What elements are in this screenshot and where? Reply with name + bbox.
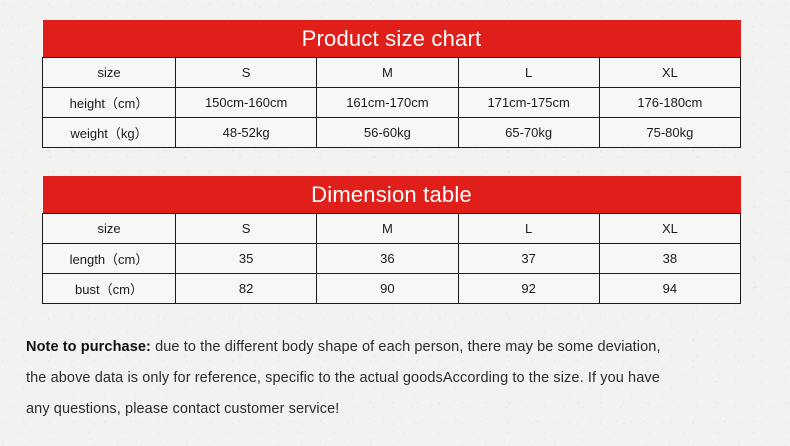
header-cell-xl: XL [599, 58, 740, 88]
row-label-bust: bust（cm） [43, 274, 176, 304]
table-row: length（cm） 35 36 37 38 [43, 244, 741, 274]
dimension-table: Dimension table size S M L XL length（cm）… [42, 176, 741, 304]
cell-length-s: 35 [176, 244, 317, 274]
product-size-chart-title: Product size chart [43, 20, 741, 58]
note-line-1-rest: due to the different body shape of each … [151, 339, 661, 355]
cell-length-l: 37 [458, 244, 599, 274]
cell-bust-l: 92 [458, 274, 599, 304]
table-row: height（cm） 150cm-160cm 161cm-170cm 171cm… [43, 88, 741, 118]
note-line-1: Note to purchase: due to the different b… [26, 332, 768, 363]
cell-height-l: 171cm-175cm [458, 88, 599, 118]
size-chart-page: Product size chart size S M L XL height（… [0, 0, 790, 446]
cell-weight-xl: 75-80kg [599, 118, 740, 148]
cell-height-s: 150cm-160cm [176, 88, 317, 118]
table-header-row: size S M L XL [43, 214, 741, 244]
note-line-3: any questions, please contact customer s… [26, 394, 768, 425]
header-cell-size: size [43, 58, 176, 88]
table-title-row: Dimension table [43, 176, 741, 214]
purchase-note: Note to purchase: due to the different b… [26, 332, 768, 425]
header-cell-s: S [176, 58, 317, 88]
row-label-length: length（cm） [43, 244, 176, 274]
header-cell-l: L [458, 58, 599, 88]
cell-bust-xl: 94 [599, 274, 740, 304]
cell-weight-s: 48-52kg [176, 118, 317, 148]
cell-length-m: 36 [317, 244, 458, 274]
dimension-table-title: Dimension table [43, 176, 741, 214]
table-row: bust（cm） 82 90 92 94 [43, 274, 741, 304]
note-lead-label: Note to purchase: [26, 339, 151, 355]
cell-height-m: 161cm-170cm [317, 88, 458, 118]
table-header-row: size S M L XL [43, 58, 741, 88]
cell-bust-m: 90 [317, 274, 458, 304]
product-size-chart-table: Product size chart size S M L XL height（… [42, 20, 741, 148]
cell-weight-m: 56-60kg [317, 118, 458, 148]
header-cell-m: M [317, 214, 458, 244]
header-cell-m: M [317, 58, 458, 88]
row-label-height: height（cm） [43, 88, 176, 118]
cell-bust-s: 82 [176, 274, 317, 304]
cell-length-xl: 38 [599, 244, 740, 274]
note-line-2: the above data is only for reference, sp… [26, 363, 768, 394]
cell-height-xl: 176-180cm [599, 88, 740, 118]
header-cell-xl: XL [599, 214, 740, 244]
table-row: weight（kg） 48-52kg 56-60kg 65-70kg 75-80… [43, 118, 741, 148]
row-label-weight: weight（kg） [43, 118, 176, 148]
header-cell-l: L [458, 214, 599, 244]
cell-weight-l: 65-70kg [458, 118, 599, 148]
header-cell-s: S [176, 214, 317, 244]
header-cell-size: size [43, 214, 176, 244]
table-title-row: Product size chart [43, 20, 741, 58]
